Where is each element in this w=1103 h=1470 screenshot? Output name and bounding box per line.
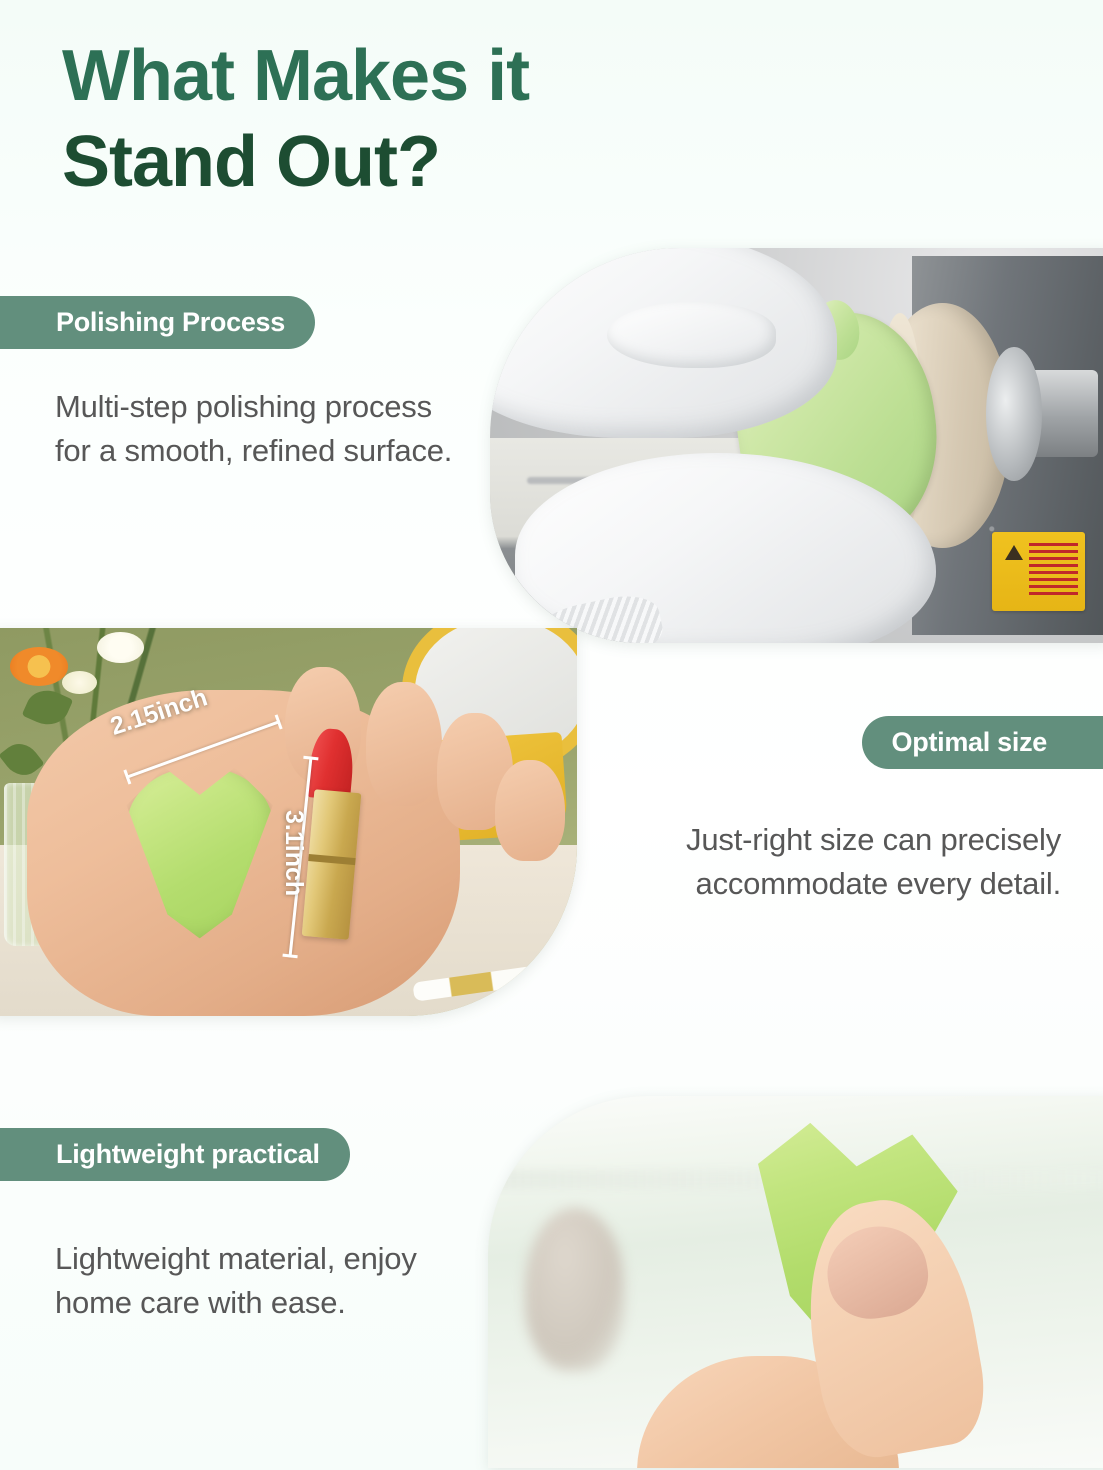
product-feature-infographic: What Makes it Stand Out? Polishing Proce… xyxy=(0,0,1103,1470)
finger xyxy=(366,682,442,806)
white-flower xyxy=(97,632,144,663)
feature-pill-optimal-size: Optimal size xyxy=(862,716,1103,769)
polishing-process-photo xyxy=(490,248,1103,643)
orange-flower xyxy=(10,647,69,686)
feature-pill-label: Polishing Process xyxy=(56,307,285,338)
lightweight-practical-photo xyxy=(488,1096,1103,1468)
size-comparison-scene: 2.15inch 3.1inch xyxy=(0,628,577,1016)
white-flower xyxy=(62,671,97,694)
glove-cuff-upper xyxy=(490,248,544,319)
feature-body-lightweight-practical: Lightweight material, enjoy home care wi… xyxy=(55,1237,485,1325)
height-dimension-label: 3.1inch xyxy=(279,810,308,896)
gloved-finger xyxy=(607,302,776,368)
lightweight-scene xyxy=(488,1096,1103,1468)
feature-pill-label: Optimal size xyxy=(892,727,1047,758)
page-title-line-2: Stand Out? xyxy=(62,122,529,203)
finger xyxy=(495,760,565,861)
polishing-scene xyxy=(490,248,1103,643)
lipstick-band xyxy=(308,854,355,865)
page-title-line-1: What Makes it xyxy=(62,38,529,116)
feature-body-polishing-process: Multi-step polishing process for a smoot… xyxy=(55,385,475,473)
page-title: What Makes it Stand Out? xyxy=(62,38,529,202)
optimal-size-photo: 2.15inch 3.1inch xyxy=(0,628,577,1016)
spindle-nut xyxy=(986,347,1042,481)
feature-pill-label: Lightweight practical xyxy=(56,1139,320,1170)
feature-pill-polishing-process: Polishing Process xyxy=(0,296,315,349)
machine-warning-label xyxy=(992,532,1085,611)
feature-body-optimal-size: Just-right size can precisely accommodat… xyxy=(591,818,1061,906)
gloved-hand-upper xyxy=(490,248,837,438)
feature-pill-lightweight-practical: Lightweight practical xyxy=(0,1128,350,1181)
thumb-nail xyxy=(821,1219,936,1326)
blurred-background-object xyxy=(525,1208,625,1372)
